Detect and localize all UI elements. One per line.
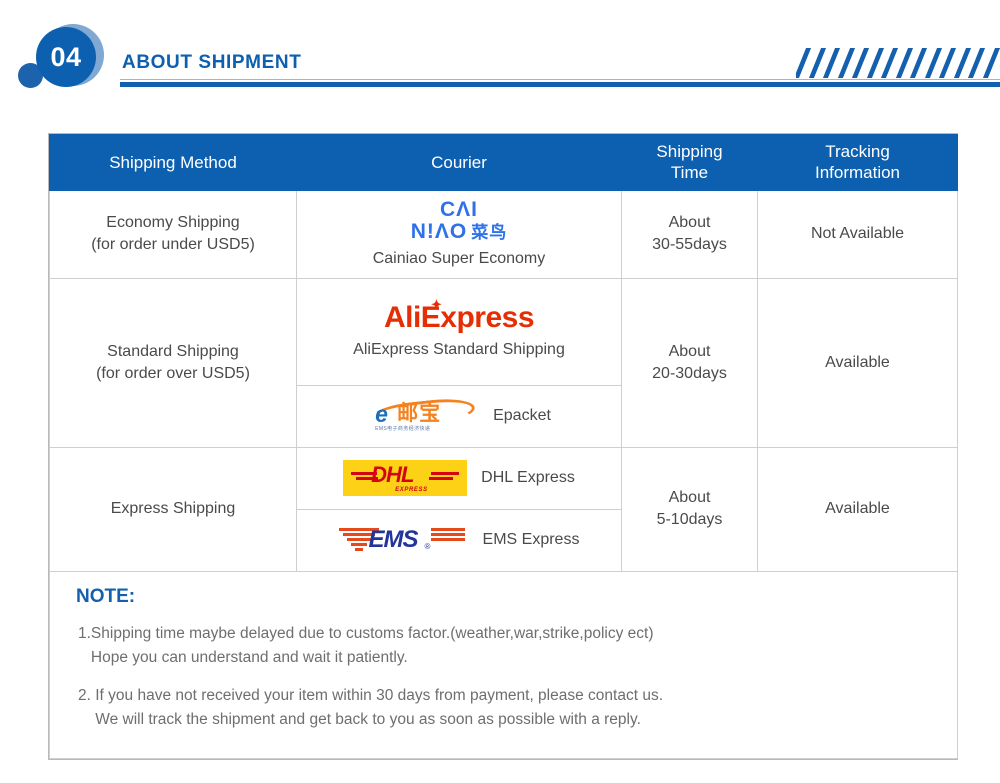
diagonal-stripes-decoration [796, 48, 1000, 78]
method-name-economy: Economy Shipping [58, 212, 288, 234]
cell-courier-aliexpress: ✦ AliExpress AliExpress Standard Shippin… [297, 278, 622, 385]
table-row-standard-a: Standard Shipping (for order over USD5) … [50, 278, 958, 385]
courier-label-ems: EMS Express [483, 529, 580, 551]
courier-group-ems: EMS ® EMS Express [305, 522, 613, 558]
cell-method-express: Express Shipping [50, 447, 297, 571]
time-line1-express: About [630, 487, 749, 509]
ems-right-bar-2 [431, 533, 465, 536]
note-line-3: 2. If you have not received your item wi… [78, 684, 939, 708]
column-header-shipping-time-line2: Time [671, 163, 708, 182]
time-line1-economy: About [630, 212, 749, 234]
cell-time-express: About 5-10days [622, 447, 758, 571]
dhl-logo: DHL EXPRESS [343, 460, 467, 496]
courier-group-epacket: e 邮宝 EMS电子商务经济快递 Epacket [305, 398, 613, 434]
note-line-2: Hope you can understand and wait it pati… [78, 646, 939, 670]
time-line1-standard: About [630, 341, 749, 363]
section-number-label: 04 [50, 44, 81, 71]
ems-tri-bar-4 [351, 543, 367, 546]
epacket-logo-tagline: EMS电子商务经济快递 [375, 426, 430, 433]
ems-tri-bar-3 [347, 538, 371, 541]
courier-group-aliexpress: ✦ AliExpress AliExpress Standard Shippin… [305, 303, 613, 361]
column-header-shipping-time: Shipping Time [622, 135, 758, 191]
column-header-tracking-information: Tracking Information [758, 135, 958, 191]
note-section: NOTE: 1.Shipping time maybe delayed due … [50, 571, 958, 759]
courier-group-cainiao: CΛI N!ΛO菜鸟 Cainiao Super Economy [305, 199, 613, 270]
cell-time-economy: About 30-55days [622, 190, 758, 278]
column-header-shipping-time-line1: Shipping [656, 142, 722, 161]
header-rule-thick [120, 82, 1000, 87]
column-header-shipping-method: Shipping Method [50, 135, 297, 191]
cainiao-logo-chinese: 菜鸟 [471, 223, 507, 242]
ems-logo: EMS ® [339, 522, 469, 558]
ems-right-bar-1 [431, 528, 465, 531]
method-note-economy: (for order under USD5) [58, 234, 288, 256]
epacket-logo-e: e [375, 403, 388, 426]
time-line2-express: 5-10days [630, 509, 749, 531]
cell-courier-ems: EMS ® EMS Express [297, 509, 622, 571]
ems-logo-text: EMS [369, 528, 418, 552]
cell-tracking-express: Available [758, 447, 958, 571]
column-header-tracking-line2: Information [815, 163, 900, 182]
cainiao-logo: CΛI N!ΛO菜鸟 [411, 199, 508, 242]
page-title: ABOUT SHIPMENT [122, 52, 301, 74]
aliexpress-sparkle-icon: ✦ [431, 298, 441, 311]
dhl-logo-text: DHL [371, 464, 413, 486]
courier-label-epacket: Epacket [493, 405, 551, 427]
ems-tri-bar-5 [355, 548, 363, 551]
cainiao-logo-line2-latin: N!ΛO [411, 220, 468, 243]
table-row-express-a: Express Shipping DHL EXPRESS [50, 447, 958, 509]
shipment-info-page: 04 ABOUT SHIPMENT Shipping Method Courie… [0, 0, 1000, 783]
cell-method-economy: Economy Shipping (for order under USD5) [50, 190, 297, 278]
cell-courier-epacket: e 邮宝 EMS电子商务经济快递 Epacket [297, 385, 622, 447]
header-rule-thin [120, 79, 1000, 80]
shipping-table: Shipping Method Courier Shipping Time Tr… [49, 134, 958, 759]
section-number-badge: 04 [36, 27, 96, 87]
cainiao-logo-line1: CΛI [411, 199, 508, 220]
courier-group-dhl: DHL EXPRESS DHL Express [305, 460, 613, 496]
cell-courier-dhl: DHL EXPRESS DHL Express [297, 447, 622, 509]
courier-label-aliexpress: AliExpress Standard Shipping [353, 339, 565, 361]
dhl-bar-right-1 [431, 472, 459, 475]
note-line-4: We will track the shipment and get back … [78, 708, 939, 732]
cell-method-standard: Standard Shipping (for order over USD5) [50, 278, 297, 447]
method-name-express: Express Shipping [58, 498, 288, 520]
diagonal-stripe [981, 48, 1000, 78]
note-spacer [72, 670, 939, 684]
note-line-1: 1.Shipping time maybe delayed due to cus… [78, 622, 939, 646]
aliexpress-logo-text: AliExpress [384, 301, 534, 334]
time-line2-standard: 20-30days [630, 363, 749, 385]
epacket-logo: e 邮宝 EMS电子商务经济快递 [367, 398, 479, 434]
dhl-bar-right-2 [429, 477, 453, 480]
table-row-economy: Economy Shipping (for order under USD5) … [50, 190, 958, 278]
aliexpress-logo: ✦ AliExpress [384, 303, 534, 333]
courier-label-cainiao: Cainiao Super Economy [373, 248, 546, 270]
method-note-standard: (for order over USD5) [58, 363, 288, 385]
method-name-standard: Standard Shipping [58, 341, 288, 363]
table-header-row: Shipping Method Courier Shipping Time Tr… [50, 135, 958, 191]
time-line2-economy: 30-55days [630, 234, 749, 256]
column-header-tracking-line1: Tracking [825, 142, 890, 161]
section-header: 04 ABOUT SHIPMENT [0, 0, 1000, 112]
dhl-logo-subtext: EXPRESS [395, 486, 428, 494]
epacket-logo-chinese: 邮宝 [397, 403, 441, 424]
shipping-table-container: Shipping Method Courier Shipping Time Tr… [48, 133, 958, 760]
courier-label-dhl: DHL Express [481, 467, 575, 489]
cainiao-logo-line2: N!ΛO菜鸟 [411, 221, 508, 242]
note-title: NOTE: [76, 586, 939, 608]
cell-time-standard: About 20-30days [622, 278, 758, 447]
cell-tracking-standard: Available [758, 278, 958, 447]
ems-right-bar-3 [431, 538, 465, 541]
column-header-courier: Courier [297, 135, 622, 191]
table-row-note: NOTE: 1.Shipping time maybe delayed due … [50, 571, 958, 759]
cell-courier-economy: CΛI N!ΛO菜鸟 Cainiao Super Economy [297, 190, 622, 278]
ems-registered-icon: ® [425, 542, 431, 553]
cell-tracking-economy: Not Available [758, 190, 958, 278]
